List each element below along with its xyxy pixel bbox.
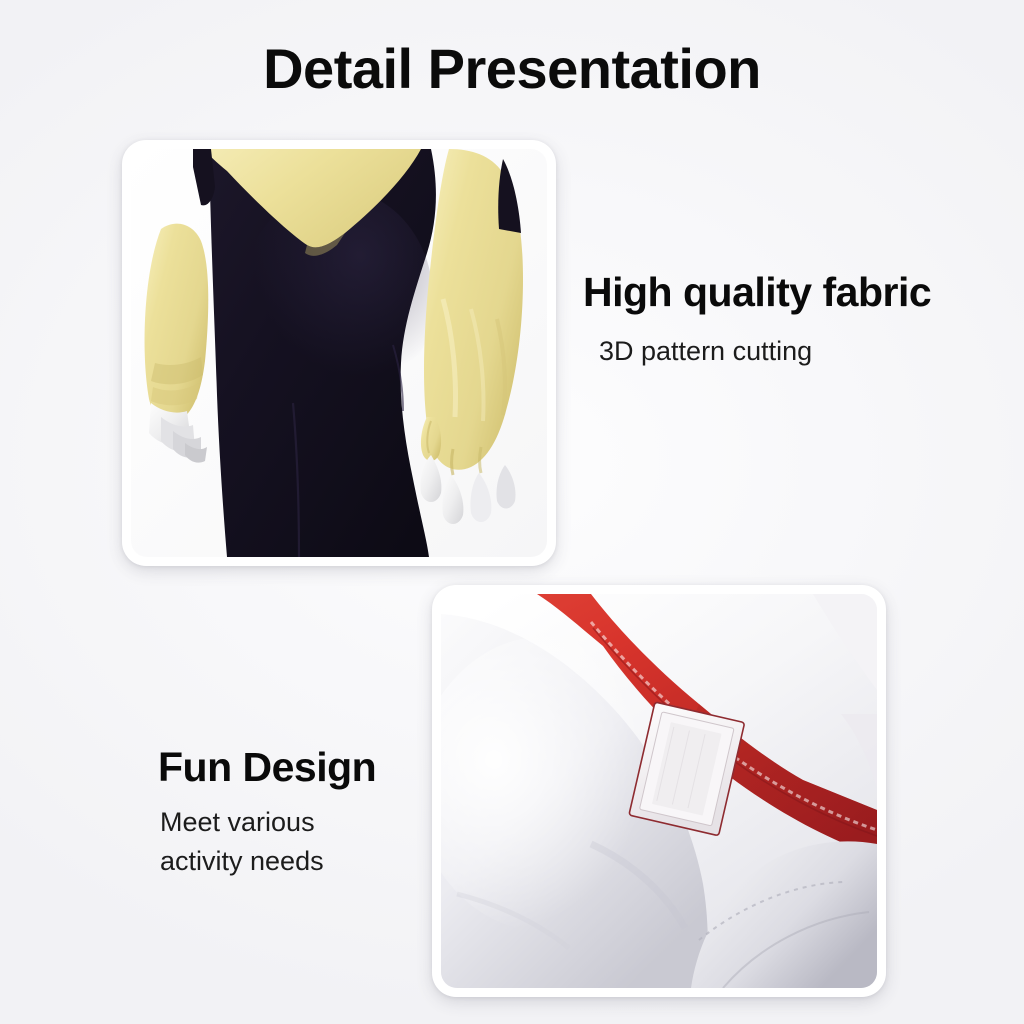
feature-text-fun-design: Fun Design Meet various activity needs xyxy=(158,746,376,881)
feature-subline-design: Meet various activity needs xyxy=(158,803,376,881)
feature-subline-design-line1: Meet various xyxy=(160,803,376,842)
feature-text-high-quality-fabric: High quality fabric 3D pattern cutting xyxy=(583,271,931,371)
feature-subline-design-line2: activity needs xyxy=(160,842,376,881)
photo-card-high-quality-fabric[interactable] xyxy=(122,140,556,566)
detail-presentation-page: Detail Presentation xyxy=(0,0,1024,1024)
costume-shoulder-illustration xyxy=(441,594,877,988)
feature-headline-design: Fun Design xyxy=(158,746,376,789)
costume-shoulder-velcro-photo xyxy=(441,594,877,988)
page-title: Detail Presentation xyxy=(0,36,1024,101)
costume-torso-illustration xyxy=(131,149,547,557)
feature-subline-fabric: 3D pattern cutting xyxy=(583,332,931,371)
feature-headline-fabric: High quality fabric xyxy=(583,271,931,314)
photo-card-fun-design[interactable] xyxy=(432,585,886,997)
costume-torso-yellow-gloves-photo xyxy=(131,149,547,557)
